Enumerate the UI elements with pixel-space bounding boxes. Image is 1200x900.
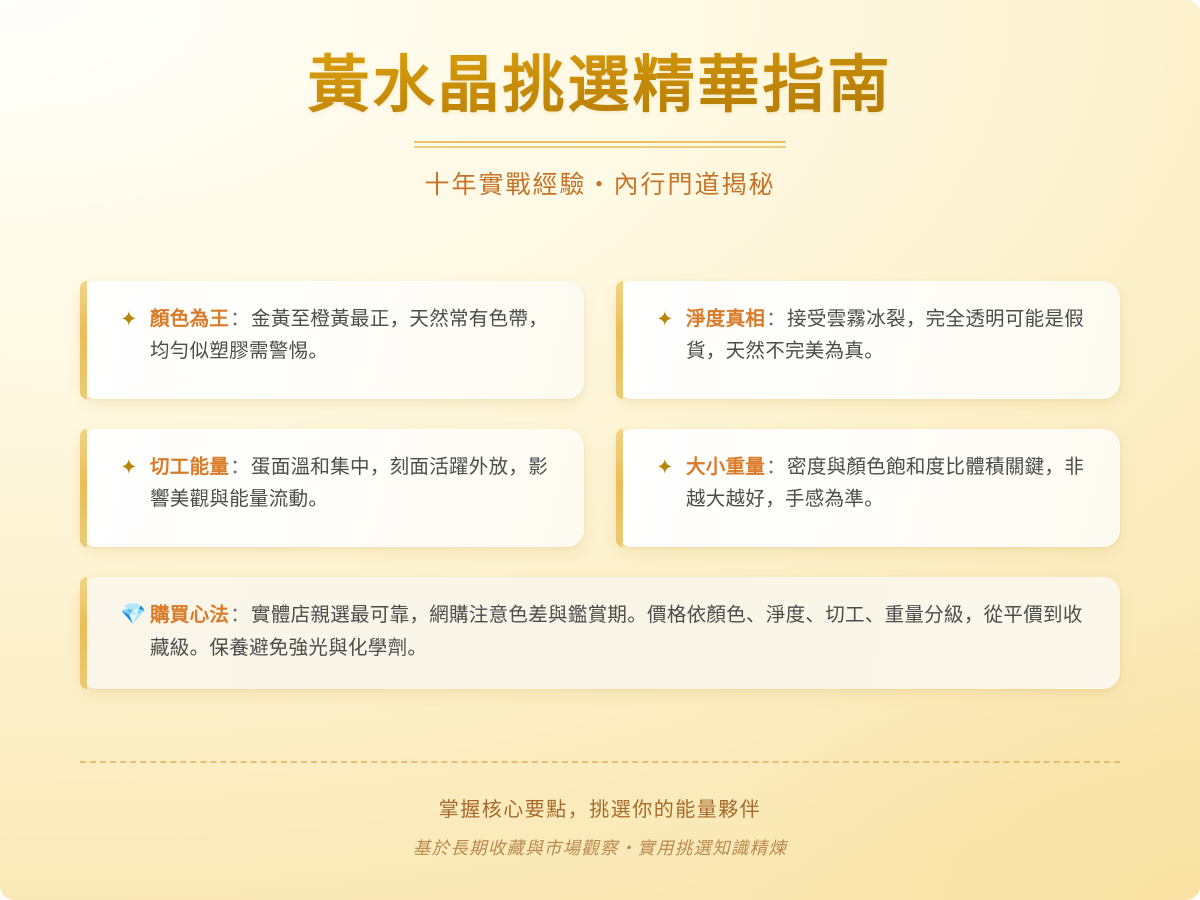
tip-card-body: 實體店親選最可靠，網購注意色差與鑑賞期。價格依顏色、淨度、切工、重量分級，從平價… [150, 604, 1083, 658]
tip-card-text: 淨度真相：接受雲霧冰裂，完全透明可能是假貨，天然不完美為真。 [686, 304, 1094, 367]
poster-root: 黃水晶挑選精華指南 十年實戰經驗・內行門道揭秘 ✦ 顏色為王：金黃至橙黃最正，天… [0, 0, 1200, 900]
tip-card-colon: ： [765, 308, 787, 330]
page-subtitle: 十年實戰經驗・內行門道揭秘 [0, 165, 1200, 201]
tip-card-clarity[interactable]: ✦ 淨度真相：接受雲霧冰裂，完全透明可能是假貨，天然不完美為真。 [616, 281, 1120, 399]
sparkle-star-icon: ✦ [120, 305, 150, 335]
tip-card-text: 大小重量：密度與顏色飽和度比體積關鍵，非越大越好，手感為準。 [686, 452, 1094, 515]
tip-card-cut[interactable]: ✦ 切工能量：蛋面溫和集中，刻面活躍外放，影響美觀與能量流動。 [80, 429, 584, 547]
tip-card-label: 切工能量 [150, 456, 229, 478]
footer-subtext: 基於長期收藏與市場觀察・實用挑選知識精煉 [80, 835, 1120, 860]
tip-card-label: 顏色為王 [150, 308, 229, 330]
footer-headline: 掌握核心要點，挑選你的能量夥伴 [80, 793, 1120, 822]
sparkle-star-icon: ✦ [656, 305, 686, 335]
sparkle-star-icon: ✦ [120, 453, 150, 483]
title-divider [414, 141, 786, 148]
footer: 掌握核心要點，挑選你的能量夥伴 基於長期收藏與市場觀察・實用挑選知識精煉 [80, 761, 1120, 860]
tip-card-label: 大小重量 [686, 456, 765, 478]
tip-card-colon: ： [229, 456, 251, 478]
tip-card-colon: ： [765, 456, 787, 478]
tip-card-text: 顏色為王：金黃至橙黃最正，天然常有色帶，均勻似塑膠需警惕。 [150, 304, 558, 367]
tip-card-text: 切工能量：蛋面溫和集中，刻面活躍外放，影響美觀與能量流動。 [150, 452, 558, 515]
tip-card-text: 購買心法：實體店親選最可靠，網購注意色差與鑑賞期。價格依顏色、淨度、切工、重量分… [150, 599, 1090, 664]
tip-card-label: 淨度真相 [686, 308, 765, 330]
page-title: 黃水晶挑選精華指南 [0, 50, 1200, 119]
gem-diamond-icon: 💎 [120, 600, 150, 630]
tip-card-colon: ： [229, 308, 251, 330]
header: 黃水晶挑選精華指南 十年實戰經驗・內行門道揭秘 [0, 0, 1200, 201]
footer-divider [80, 761, 1120, 763]
tip-card-buying-guide[interactable]: 💎 購買心法：實體店親選最可靠，網購注意色差與鑑賞期。價格依顏色、淨度、切工、重… [80, 577, 1120, 689]
tip-card-color[interactable]: ✦ 顏色為王：金黃至橙黃最正，天然常有色帶，均勻似塑膠需警惕。 [80, 281, 584, 399]
tips-card-grid: ✦ 顏色為王：金黃至橙黃最正，天然常有色帶，均勻似塑膠需警惕。 ✦ 淨度真相：接… [80, 281, 1120, 689]
tip-card-colon: ： [229, 604, 251, 626]
tip-card-label: 購買心法 [150, 604, 229, 626]
sparkle-star-icon: ✦ [656, 453, 686, 483]
tip-card-size-weight[interactable]: ✦ 大小重量：密度與顏色飽和度比體積關鍵，非越大越好，手感為準。 [616, 429, 1120, 547]
